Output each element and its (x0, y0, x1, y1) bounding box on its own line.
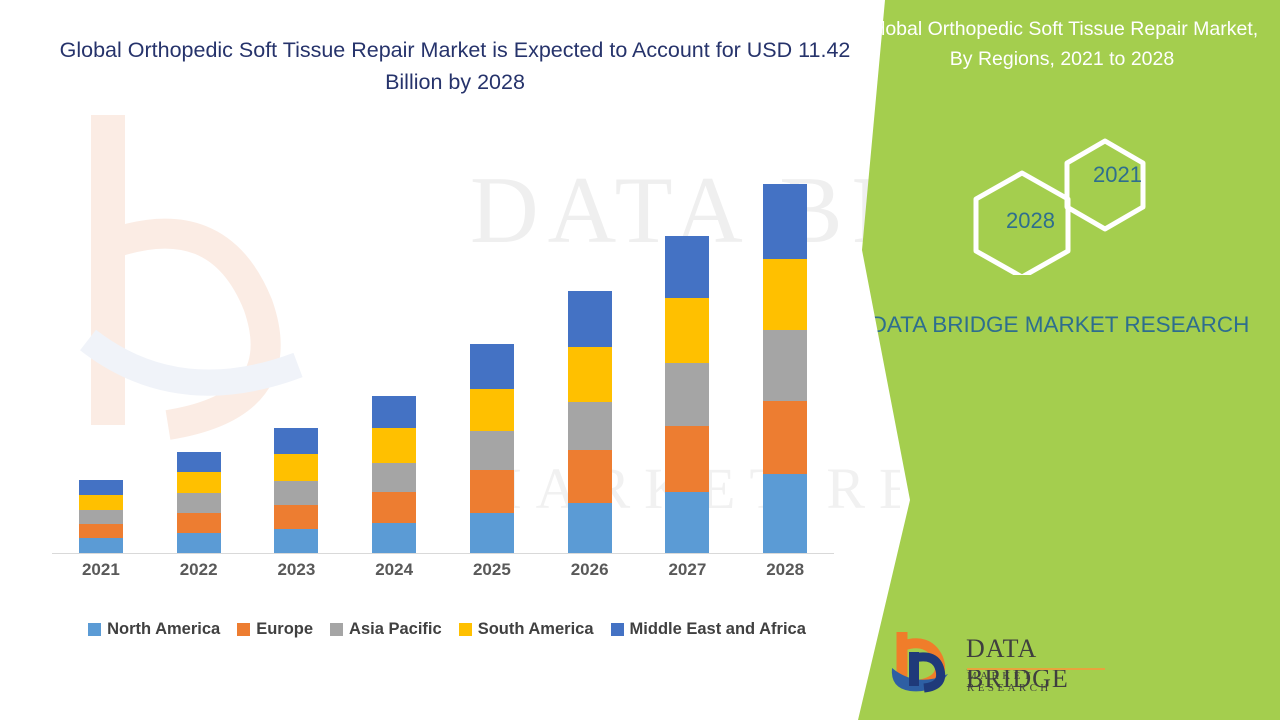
legend-swatch-icon (459, 623, 472, 636)
bar-segment (177, 472, 221, 493)
legend-item[interactable]: Europe (237, 620, 313, 639)
bar-segment (177, 533, 221, 553)
bar-stack (568, 291, 612, 553)
bar-segment (763, 330, 807, 401)
green-side-panel: Global Orthopedic Soft Tissue Repair Mar… (840, 0, 1280, 720)
bar-stack (177, 452, 221, 553)
brand-name: DATA BRIDGE MARKET RESEARCH (860, 308, 1260, 341)
legend-label: Middle East and Africa (630, 620, 806, 639)
bar-segment (79, 510, 123, 524)
bar-stack (372, 396, 416, 553)
x-axis-label-2021: 2021 (52, 560, 149, 590)
bar-segment (274, 505, 318, 529)
bar-segment (568, 450, 612, 503)
bar-segment (274, 529, 318, 553)
bar-column-2026 (541, 150, 638, 553)
bar-column-2023 (248, 150, 345, 553)
bar-segment (665, 298, 709, 363)
bar-segment (665, 492, 709, 553)
legend-item[interactable]: North America (88, 620, 220, 639)
bar-segment (665, 363, 709, 426)
bar-segment (470, 431, 514, 470)
bar-column-2022 (150, 150, 247, 553)
bar-segment (665, 426, 709, 492)
legend-item[interactable]: South America (459, 620, 594, 639)
bar-segment (177, 493, 221, 513)
chart-panel: DATA BRIDGE MARKET RESEARCH Global Ortho… (0, 0, 900, 720)
x-axis-label-2023: 2023 (248, 560, 345, 590)
bar-segment (177, 452, 221, 472)
x-axis-label-2026: 2026 (541, 560, 638, 590)
x-axis-label-2027: 2027 (639, 560, 736, 590)
x-axis-label-2024: 2024 (346, 560, 443, 590)
legend-swatch-icon (330, 623, 343, 636)
green-panel-title: Global Orthopedic Soft Tissue Repair Mar… (852, 14, 1272, 74)
legend-item[interactable]: Middle East and Africa (611, 620, 806, 639)
hexagon-group: 2021 2028 (960, 135, 1180, 275)
bar-segment (470, 470, 514, 513)
legend-item[interactable]: Asia Pacific (330, 620, 442, 639)
legend-swatch-icon (237, 623, 250, 636)
legend-label: Europe (256, 620, 313, 639)
bar-segment (665, 236, 709, 298)
bar-segment (763, 401, 807, 474)
logo-subtitle: MARKET RESEARCH (967, 670, 1120, 694)
bar-column-2028 (737, 150, 834, 553)
legend-label: North America (107, 620, 220, 639)
data-bridge-mark-icon (890, 628, 962, 694)
x-axis-label-2028: 2028 (737, 560, 834, 590)
bar-segment (372, 396, 416, 428)
bar-segment (372, 463, 416, 492)
bar-segment (177, 513, 221, 533)
legend-label: Asia Pacific (349, 620, 442, 639)
legend-swatch-icon (611, 623, 624, 636)
hexagon-2021-label: 2021 (1093, 162, 1142, 188)
bar-segment (274, 481, 318, 505)
x-axis-labels: 20212022202320242025202620272028 (52, 560, 834, 590)
bar-segment (372, 428, 416, 463)
bar-chart-plot (52, 150, 834, 553)
bar-segment (79, 524, 123, 538)
bar-stack (274, 428, 318, 553)
data-bridge-logo: DATA BRIDGE MARKET RESEARCH (890, 628, 1120, 700)
bar-segment (79, 495, 123, 510)
bar-column-2024 (346, 150, 443, 553)
bar-stack (665, 236, 709, 553)
bar-segment (568, 402, 612, 450)
bar-column-2027 (639, 150, 736, 553)
bar-segment (372, 523, 416, 553)
bar-segment (79, 480, 123, 495)
legend-label: South America (478, 620, 594, 639)
bar-stack (763, 184, 807, 553)
bar-segment (568, 291, 612, 347)
x-axis-line (52, 553, 834, 554)
bar-segment (274, 454, 318, 481)
bar-segment (568, 347, 612, 402)
hexagon-shapes-icon (960, 135, 1180, 275)
bar-stack (470, 344, 514, 553)
bar-segment (470, 344, 514, 389)
chart-legend: North AmericaEuropeAsia PacificSouth Ame… (52, 616, 842, 642)
bar-segment (763, 259, 807, 330)
chart-title: Global Orthopedic Soft Tissue Repair Mar… (55, 34, 855, 98)
bar-segment (763, 184, 807, 259)
bar-segment (274, 428, 318, 454)
bar-segment (372, 492, 416, 523)
infographic-root: DATA BRIDGE MARKET RESEARCH Global Ortho… (0, 0, 1280, 720)
bar-segment (470, 513, 514, 553)
bar-segment (79, 538, 123, 553)
hexagon-2028-label: 2028 (1006, 208, 1055, 234)
bar-stack (79, 480, 123, 553)
legend-swatch-icon (88, 623, 101, 636)
bar-segment (568, 503, 612, 553)
bar-segment (470, 389, 514, 431)
x-axis-label-2022: 2022 (150, 560, 247, 590)
bar-column-2021 (52, 150, 149, 553)
x-axis-label-2025: 2025 (443, 560, 540, 590)
bar-column-2025 (443, 150, 540, 553)
bar-segment (763, 474, 807, 553)
